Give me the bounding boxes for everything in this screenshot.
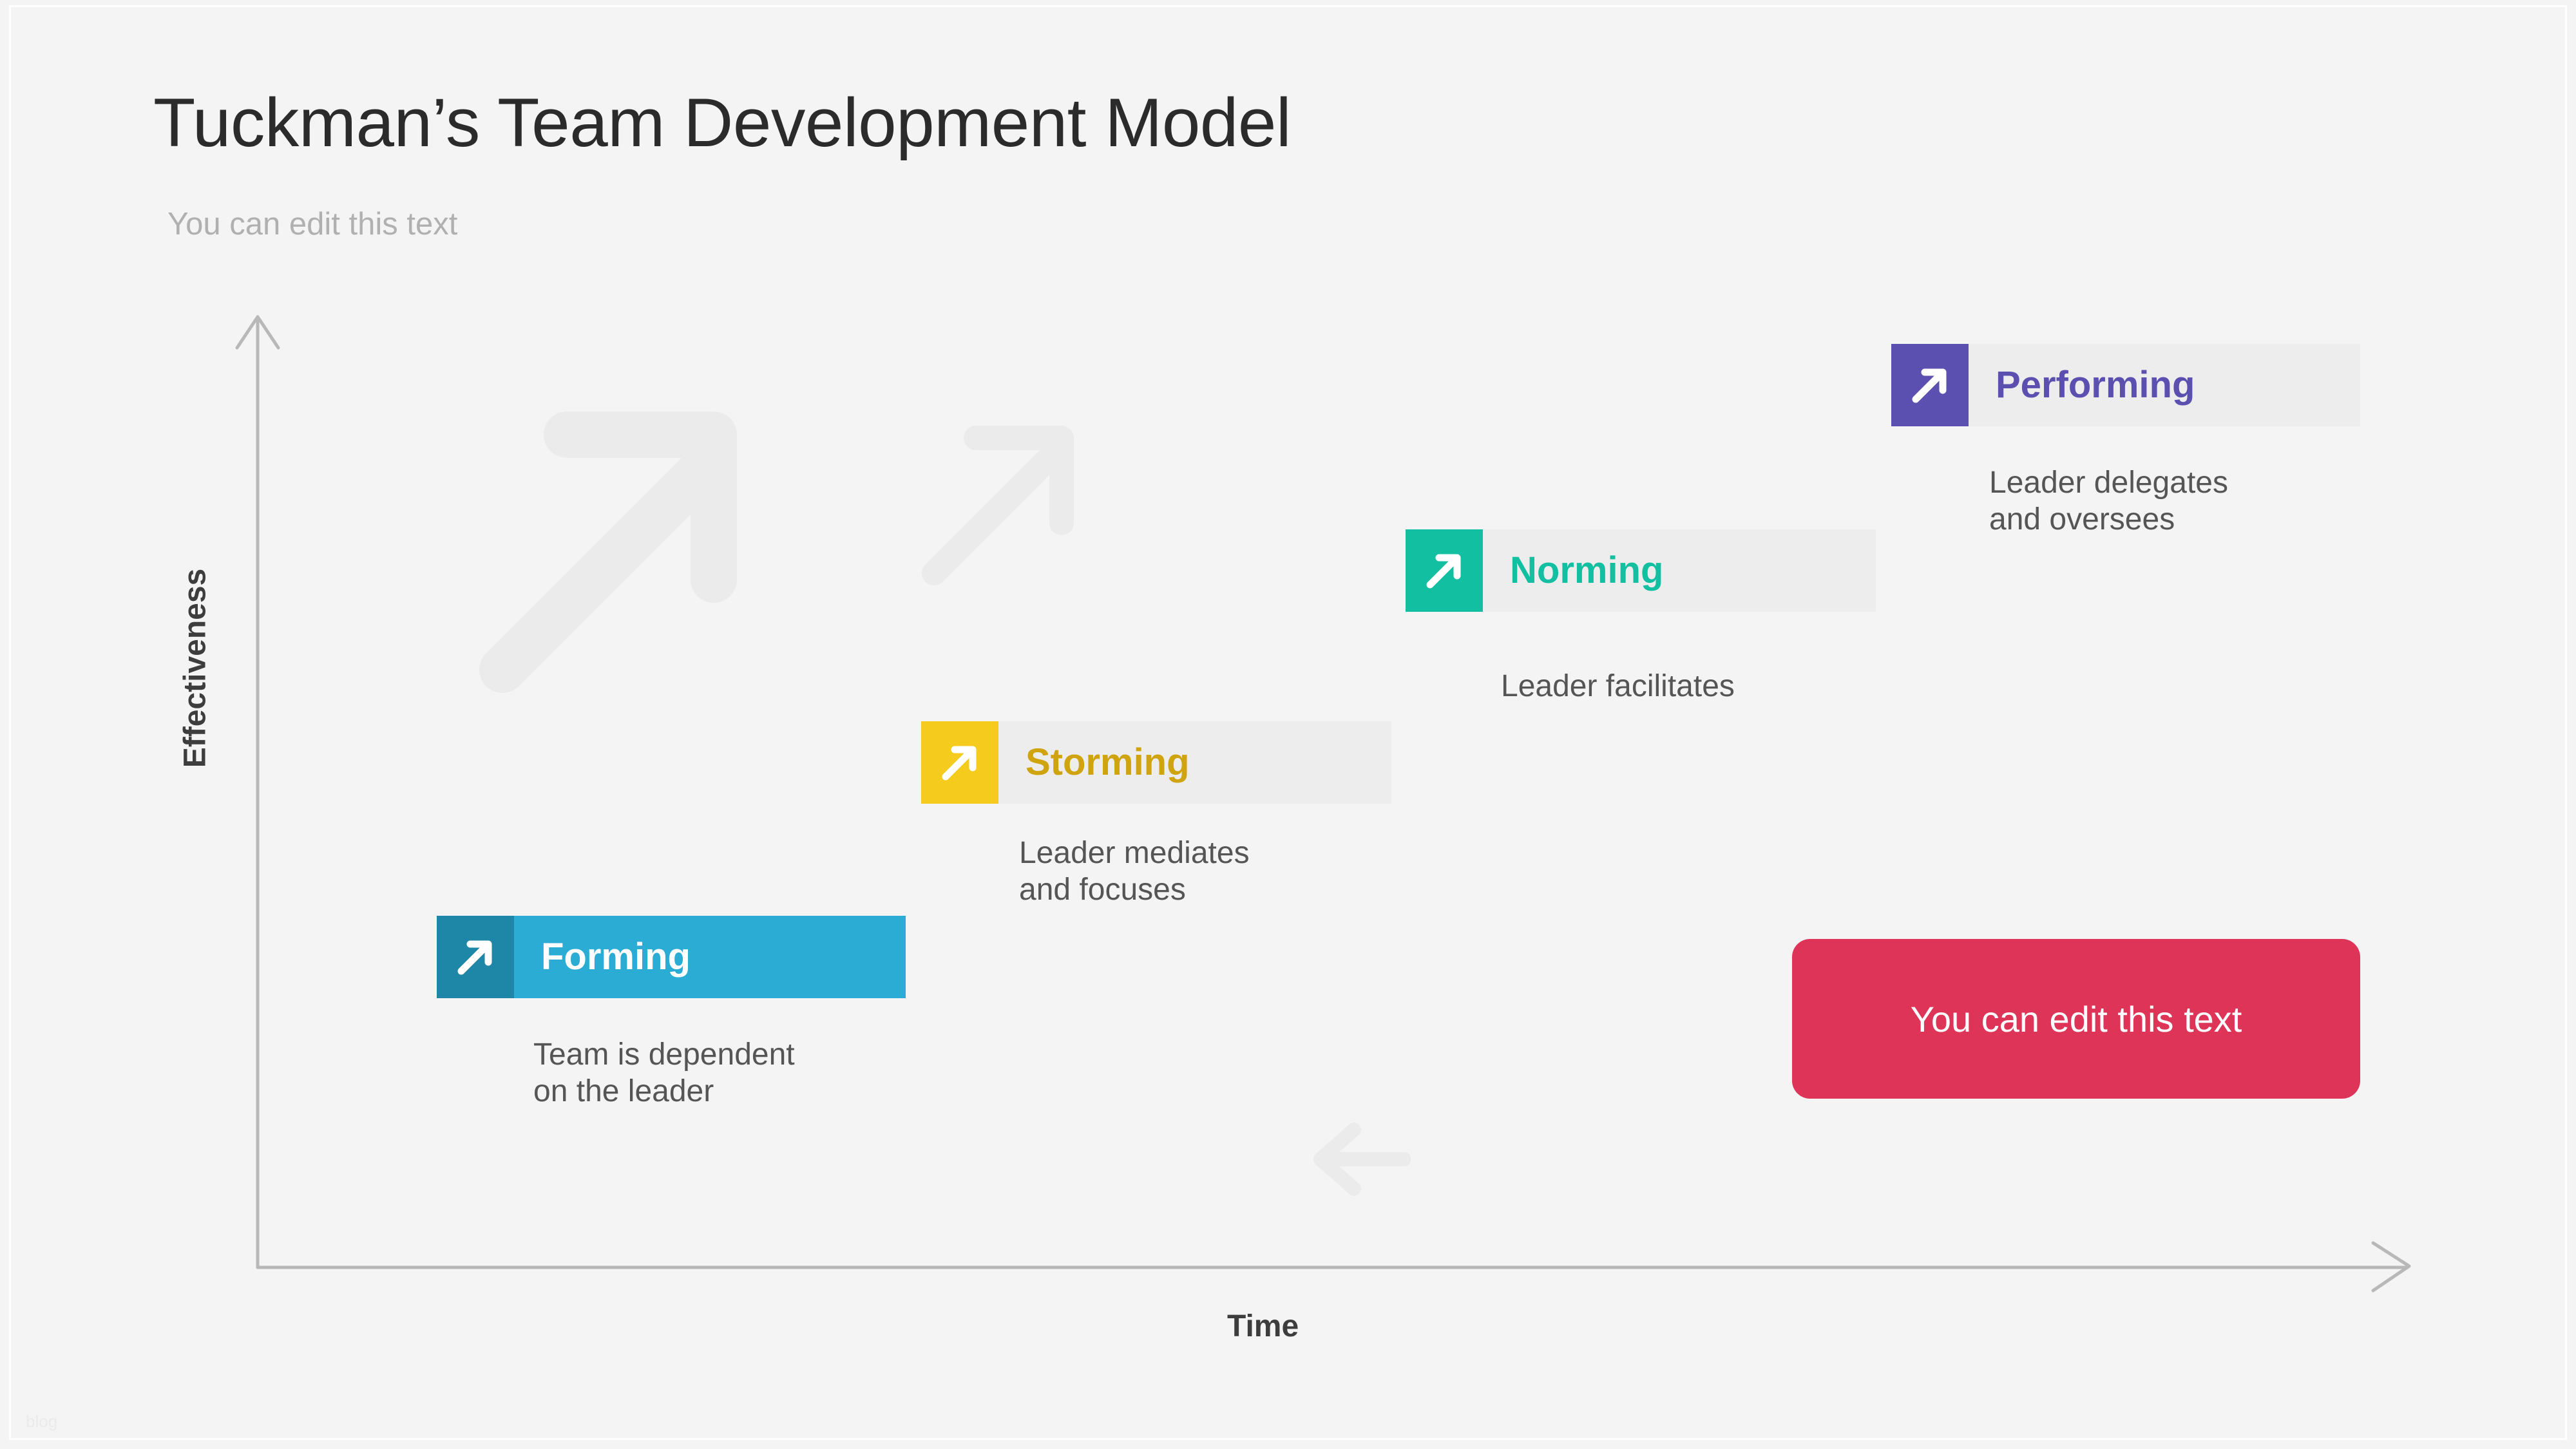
editable-text-callout-button[interactable]: You can edit this text (1792, 939, 2360, 1099)
callout-label: You can edit this text (1911, 998, 2242, 1040)
arrow-up-right-icon (1891, 344, 1969, 426)
axis-label-x: Time (1227, 1309, 1299, 1344)
stage-label-storming: Storming (1026, 744, 1190, 781)
arrow-up-right-icon (1406, 529, 1483, 612)
watermark-arrow-up-right-large (477, 386, 747, 696)
arrow-up-right-icon (921, 721, 998, 804)
stage-description-forming: Team is dependent on the leader (533, 1037, 795, 1110)
page-subtitle: You can edit this text (167, 206, 457, 242)
stage-label-performing: Performing (1996, 366, 2195, 404)
stage-description-performing: Leader delegates and oversees (1989, 465, 2228, 538)
stage-body-forming: Forming (514, 916, 906, 998)
stage-card-storming[interactable]: Storming (921, 721, 1391, 804)
stage-description-norming: Leader facilitates (1501, 668, 1735, 705)
stage-description-storming: Leader mediates and focuses (1019, 835, 1250, 908)
stage-label-norming: Norming (1510, 552, 1663, 589)
stage-body-norming: Norming (1483, 529, 1876, 612)
stage-label-forming: Forming (541, 938, 691, 976)
stage-card-performing[interactable]: Performing (1891, 344, 2360, 426)
watermark-arrow-up-right-small (915, 412, 1082, 592)
corner-watermark: blog (26, 1412, 57, 1432)
stage-body-performing: Performing (1969, 344, 2360, 426)
page-title: Tuckman’s Team Development Model (153, 82, 1291, 162)
stage-body-storming: Storming (998, 721, 1391, 804)
stage-card-forming[interactable]: Forming (437, 916, 906, 998)
watermark-arrow-left (1308, 1121, 1411, 1198)
stage-card-norming[interactable]: Norming (1406, 529, 1876, 612)
arrow-up-right-icon (437, 916, 514, 998)
axis-label-y: Effectiveness (178, 533, 213, 804)
slide-canvas: Tuckman’s Team Development Model You can… (0, 0, 2576, 1449)
